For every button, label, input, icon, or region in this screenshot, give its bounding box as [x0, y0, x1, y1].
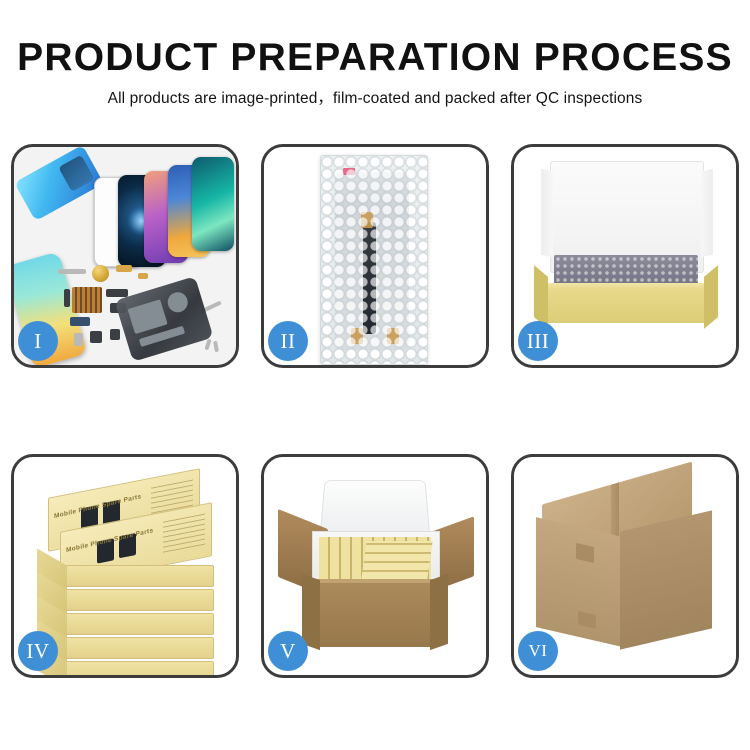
- carton-body: [316, 583, 434, 647]
- flex-connector-top: [361, 212, 373, 228]
- spare-part-camera-flex: [106, 289, 128, 297]
- process-step-grid: I II: [11, 144, 739, 692]
- connector-chip-grid: [72, 287, 102, 313]
- packed-retail-boxes-stack: [361, 541, 432, 579]
- screen-flex-cable: [363, 222, 376, 334]
- phone-screen-teal: [192, 157, 234, 251]
- phone-back-housing: [114, 276, 213, 362]
- process-step-5[interactable]: V: [261, 454, 489, 678]
- qc-sticker: [343, 168, 355, 175]
- spare-part-bracket: [64, 289, 70, 307]
- retail-box-layer-2: [62, 589, 214, 611]
- step-badge-2: II: [268, 321, 308, 361]
- step-badge-4: IV: [18, 631, 58, 671]
- spare-part-gold-clip: [138, 273, 148, 279]
- retail-box-layer-5: [62, 661, 214, 675]
- spare-part-screw-2: [213, 341, 219, 353]
- process-step-3[interactable]: III: [511, 144, 739, 368]
- process-step-1[interactable]: I: [11, 144, 239, 368]
- process-step-4[interactable]: Mobile Phone Spare Parts Mobile Phone Sp…: [11, 454, 239, 678]
- retail-box-layer-4: [62, 637, 214, 659]
- spare-part-gold-flex: [116, 265, 132, 272]
- carton-right-face: [620, 510, 712, 649]
- process-step-6[interactable]: VI: [511, 454, 739, 678]
- page-title: PRODUCT PREPARATION PROCESS: [0, 36, 750, 80]
- kraft-box-front-panel: [542, 289, 710, 323]
- page-subtitle: All products are image-printed，film-coat…: [0, 86, 750, 108]
- carton-left-face: [536, 517, 622, 647]
- screen-protector-film: [14, 147, 104, 221]
- flex-connector-left: [351, 328, 363, 344]
- vibration-motor-part: [92, 265, 109, 282]
- spare-part-speaker: [70, 317, 90, 326]
- flex-connector-right: [387, 328, 399, 344]
- process-step-2[interactable]: II: [261, 144, 489, 368]
- step-badge-6: VI: [518, 631, 558, 671]
- bubble-wrap-bag: [320, 155, 428, 365]
- spare-part-screw-1: [204, 339, 211, 351]
- step-badge-5: V: [268, 631, 308, 671]
- step-badge-1: I: [18, 321, 58, 361]
- spare-part-mic: [110, 329, 120, 340]
- spare-part-strip: [58, 269, 86, 274]
- spare-part-sim-tray: [74, 333, 83, 346]
- step-badge-3: III: [518, 321, 558, 361]
- spare-part-sensor: [90, 331, 102, 343]
- retail-box-layer-3: [62, 613, 214, 635]
- retail-box-layer-1: [62, 565, 214, 587]
- product-preparation-infographic: PRODUCT PREPARATION PROCESS All products…: [0, 0, 750, 750]
